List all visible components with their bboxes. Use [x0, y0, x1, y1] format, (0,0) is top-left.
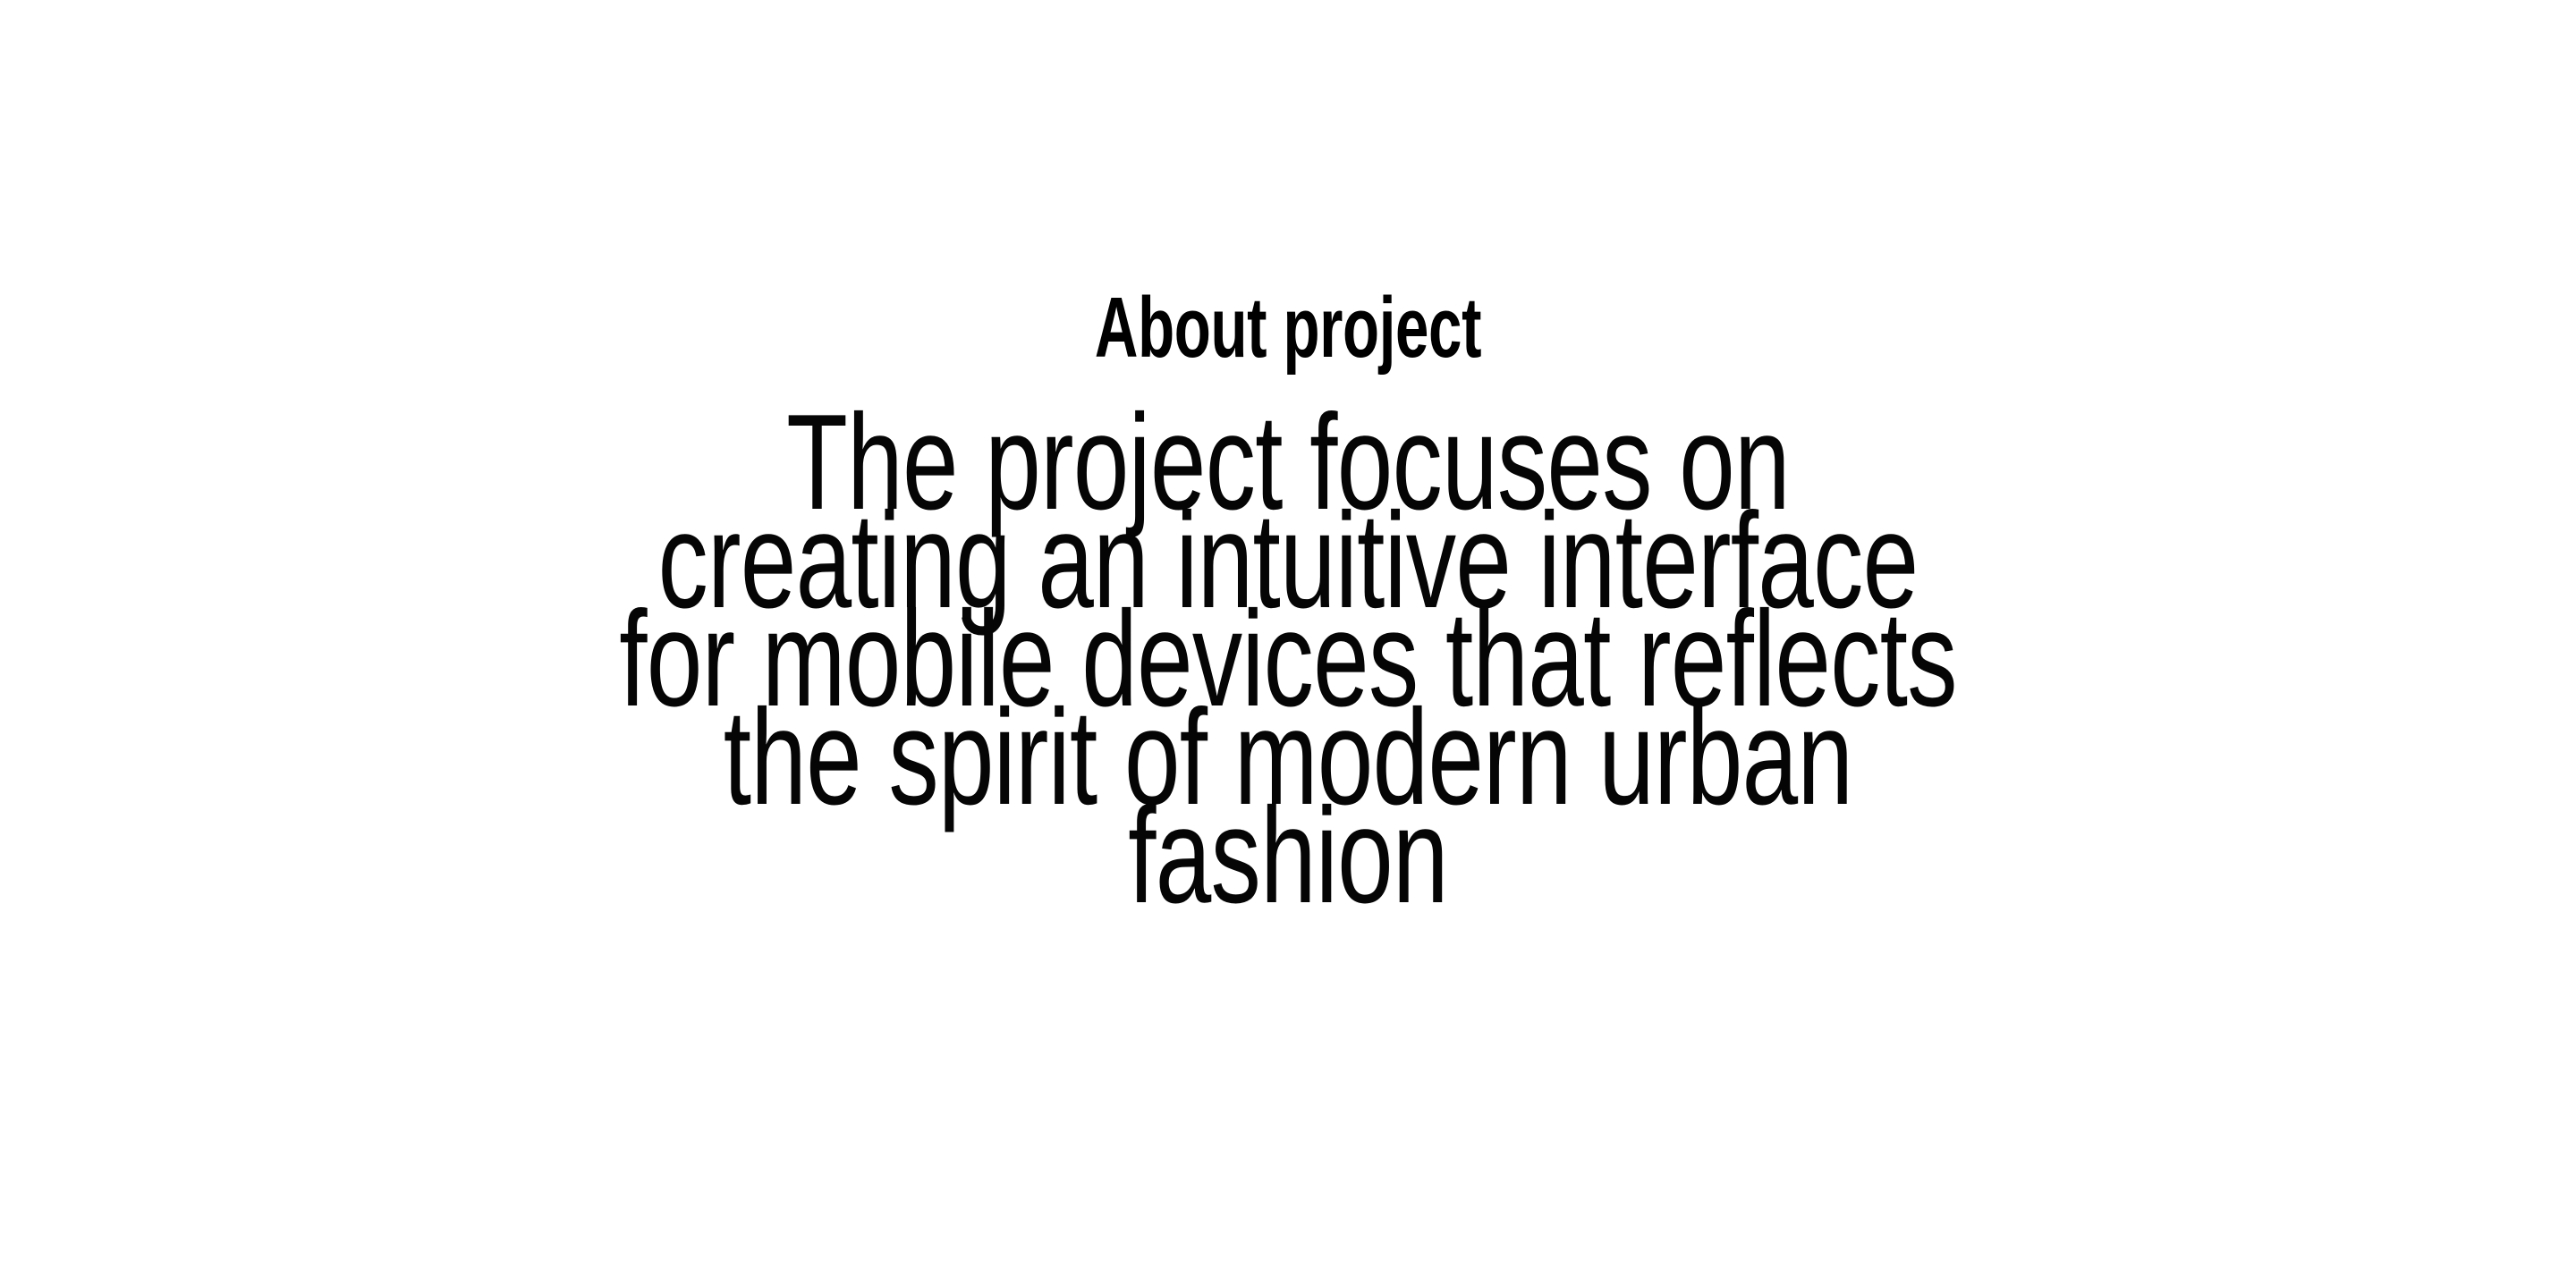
- statement-line-5: fashion: [335, 807, 2241, 905]
- statement-block: The project focuses on creating an intui…: [0, 413, 2576, 905]
- about-project-section: About project The project focuses on cre…: [0, 0, 2576, 1284]
- section-label: About project: [386, 279, 2190, 377]
